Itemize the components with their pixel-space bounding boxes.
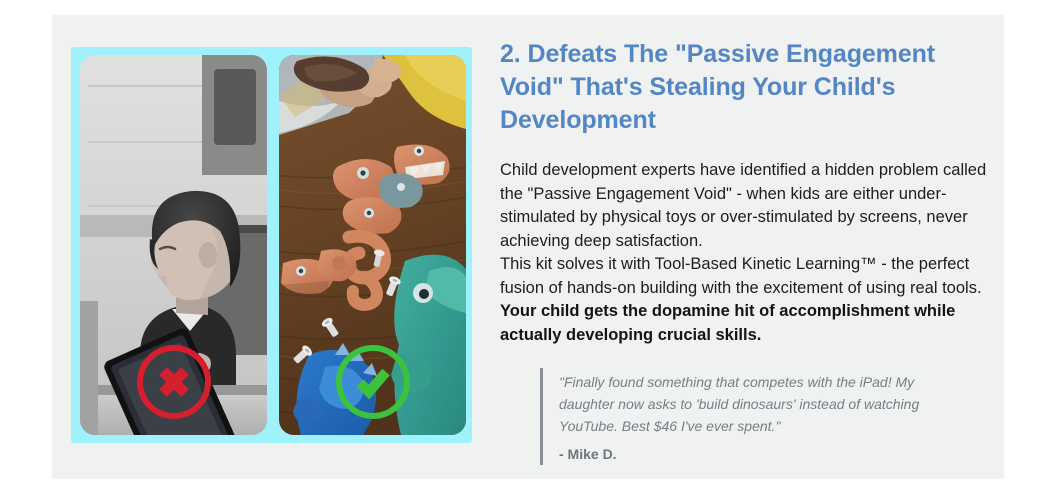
comparison-frame [71, 47, 472, 443]
benefit-paragraph-2-lead: This kit solves it with Tool-Based Kinet… [500, 255, 982, 297]
comparison-panel-left[interactable] [80, 55, 267, 435]
benefit-headline: 2. Defeats The "Passive Engagement Void"… [500, 38, 990, 137]
red-x-circle-icon [137, 345, 211, 419]
green-check-circle-icon [336, 345, 410, 419]
page-root: 2. Defeats The "Passive Engagement Void"… [0, 0, 1051, 495]
benefit-paragraph-2: This kit solves it with Tool-Based Kinet… [500, 253, 990, 347]
benefit-section-card: 2. Defeats The "Passive Engagement Void"… [52, 15, 1004, 479]
testimonial-quote: "Finally found something that competes w… [559, 371, 950, 437]
comparison-media-column [71, 47, 472, 443]
testimonial-author: - Mike D. [559, 445, 950, 463]
benefit-paragraph-1: Child development experts have identifie… [500, 159, 990, 253]
customer-testimonial: "Finally found something that competes w… [540, 368, 950, 465]
comparison-panel-right[interactable] [279, 55, 466, 435]
benefit-paragraph-2-emphasis: Your child gets the dopamine hit of acco… [500, 302, 955, 344]
benefit-copy-column: 2. Defeats The "Passive Engagement Void"… [500, 38, 990, 481]
